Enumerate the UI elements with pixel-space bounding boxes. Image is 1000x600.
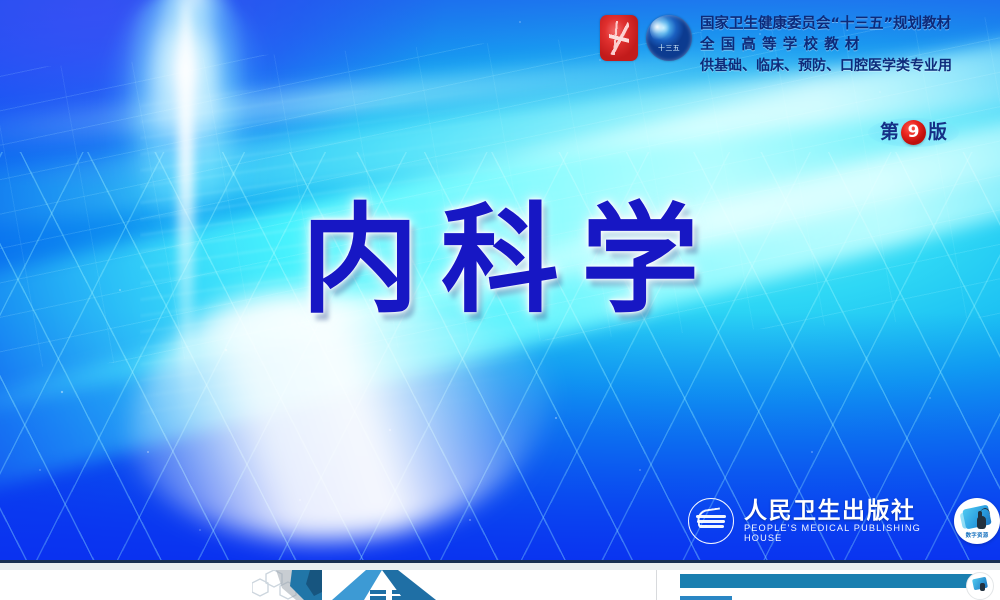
badge-label: 数字资源 xyxy=(954,531,1000,539)
blue-chevron-logo-graphic xyxy=(332,570,462,600)
edition-prefix: 第 xyxy=(880,123,899,142)
globe-caption: 十三五 xyxy=(646,45,692,52)
publisher-names: 人民卫生出版社 PEOPLE'S MEDICAL PUBLISHING HOUS… xyxy=(744,499,936,543)
series-line-1: 国家卫生健康委员会“十三五”规划教材 xyxy=(700,15,990,34)
presentation-slide[interactable]: 十三五 国家卫生健康委员会“十三五”规划教材 全国高等学校教材 供基础、临床、预… xyxy=(0,0,1000,562)
series-line-2: 全国高等学校教材 xyxy=(700,36,990,55)
pmph-seal-logo-icon xyxy=(600,15,638,61)
mini-badge-hand xyxy=(980,583,985,591)
publisher-name-cn: 人民卫生出版社 xyxy=(744,499,936,523)
molecule-hexagon-graphic xyxy=(252,570,322,600)
underlying-page-preview[interactable] xyxy=(0,570,1000,600)
textbook-series-header: 十三五 国家卫生健康委员会“十三五”规划教材 全国高等学校教材 供基础、临床、预… xyxy=(600,14,990,76)
page-gap xyxy=(0,563,1000,570)
series-line-3: 供基础、临床、预防、口腔医学类专业用 xyxy=(700,57,990,75)
badge-hand-icon xyxy=(977,516,986,529)
document-panel-preview xyxy=(680,570,1000,600)
thirteenth-five-year-plan-globe-icon: 十三五 xyxy=(646,15,692,61)
emblem-bar-1 xyxy=(696,515,726,518)
panel-header-bar xyxy=(680,574,980,588)
screen: 十三五 国家卫生健康委员会“十三五”规划教材 全国高等学校教材 供基础、临床、预… xyxy=(0,0,1000,600)
series-text-lines: 国家卫生健康委员会“十三五”规划教材 全国高等学校教材 供基础、临床、预防、口腔… xyxy=(700,14,990,76)
publisher-lockup: 人民卫生出版社 PEOPLE'S MEDICAL PUBLISHING HOUS… xyxy=(688,498,1000,544)
edition-suffix: 版 xyxy=(928,123,947,142)
digital-resource-badge-icon[interactable] xyxy=(966,572,994,600)
emblem-bar-3 xyxy=(699,525,724,528)
edition-badge: 第 9 版 xyxy=(868,118,959,147)
panel-chip xyxy=(680,596,732,600)
publisher-name-en: PEOPLE'S MEDICAL PUBLISHING HOUSE xyxy=(744,524,936,542)
pmph-circular-emblem-icon xyxy=(688,498,734,544)
panel-divider-right xyxy=(656,570,657,600)
edition-number: 9 xyxy=(901,120,926,145)
digital-resource-badge-icon[interactable]: 数字资源 xyxy=(954,498,1000,544)
page-title: 内科学 xyxy=(0,196,1000,326)
emblem-bar-2 xyxy=(697,520,725,523)
